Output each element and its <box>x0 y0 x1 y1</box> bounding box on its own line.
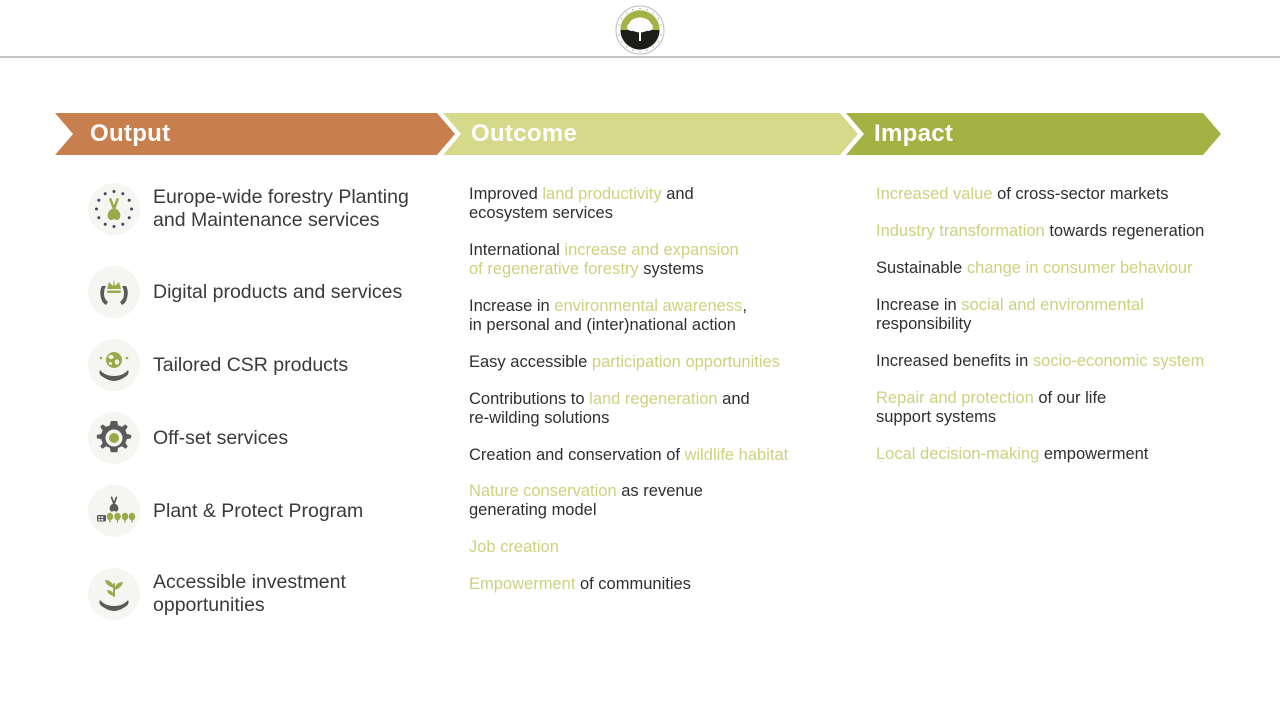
tree-circle-logo <box>615 5 665 55</box>
impact-item-line: Increased benefits in socio-economic sys… <box>876 352 1204 371</box>
outcome-item-line: of regenerative forestry systems <box>469 260 739 279</box>
outcome-item[interactable]: Contributions to land regeneration andre… <box>469 390 750 429</box>
highlight-text: increase and expansion <box>564 241 738 259</box>
highlight-text: Job creation <box>469 538 559 556</box>
outcome-item[interactable]: Creation and conservation of wildlife ha… <box>469 446 788 465</box>
plain-text: of cross-sector markets <box>993 185 1169 203</box>
outcome-item-line: Easy accessible participation opportunit… <box>469 353 780 372</box>
impact-item[interactable]: Local decision-making empowerment <box>876 445 1148 464</box>
output-item-line: Digital products and services <box>153 281 402 304</box>
plain-text: Contributions to <box>469 390 589 408</box>
outcome-item[interactable]: International increase and expansionof r… <box>469 241 739 280</box>
highlight-text: Repair and protection <box>876 389 1034 407</box>
plain-text: generating model <box>469 501 597 519</box>
impact-item-line: Industry transformation towards regenera… <box>876 222 1204 241</box>
output-item-line: Off-set services <box>153 427 288 450</box>
outcome-item[interactable]: Improved land productivity andecosystem … <box>469 185 694 224</box>
plain-text: systems <box>639 260 704 278</box>
page-header <box>0 0 1280 58</box>
phase-banner-row: Output Outcome Impact <box>0 113 1280 155</box>
globe-in-hand-icon <box>88 339 140 391</box>
output-item[interactable]: Digital products and services <box>88 266 402 318</box>
shovels-and-trees-icon <box>88 485 140 537</box>
output-item-line: opportunities <box>153 594 346 617</box>
banner-output: Output <box>55 113 455 155</box>
impact-item[interactable]: Increased benefits in socio-economic sys… <box>876 352 1204 371</box>
highlight-text: Nature conservation <box>469 482 617 500</box>
impact-item[interactable]: Increase in social and environmentalresp… <box>876 296 1144 335</box>
plain-text: Creation and conservation of <box>469 446 685 464</box>
impact-item-line: Local decision-making empowerment <box>876 445 1148 464</box>
output-item-label: Digital products and services <box>153 281 402 304</box>
outcome-item[interactable]: Easy accessible participation opportunit… <box>469 353 780 372</box>
globe-in-hand-icon <box>88 339 140 391</box>
outcome-item[interactable]: Nature conservation as revenuegenerating… <box>469 482 703 521</box>
impact-item-line: Sustainable change in consumer behaviour <box>876 259 1192 278</box>
impact-item-line: responsibility <box>876 315 1144 334</box>
outcome-item-line: Nature conservation as revenue <box>469 482 703 501</box>
hands-holding-crown-icon <box>88 266 140 318</box>
output-item-label: Accessible investmentopportunities <box>153 571 346 617</box>
output-item[interactable]: Plant & Protect Program <box>88 485 363 537</box>
plain-text: Sustainable <box>876 259 967 277</box>
plain-text: ecosystem services <box>469 204 613 222</box>
impact-item-line: Repair and protection of our life <box>876 389 1106 408</box>
output-item-label: Plant & Protect Program <box>153 500 363 523</box>
highlight-text: of regenerative forestry <box>469 260 639 278</box>
highlight-text: land productivity <box>542 185 661 203</box>
banner-impact-label: Impact <box>874 120 953 148</box>
outcome-item-line: re-wilding solutions <box>469 409 750 428</box>
plain-text: Increase in <box>469 297 554 315</box>
highlight-text: land regeneration <box>589 390 717 408</box>
outcome-item[interactable]: Empowerment of communities <box>469 575 691 594</box>
plain-text: Increased benefits in <box>876 352 1033 370</box>
outcome-item-line: Increase in environmental awareness, <box>469 297 747 316</box>
banner-outcome-label: Outcome <box>471 120 577 148</box>
outcome-item-line: Job creation <box>469 538 559 557</box>
plain-text: and <box>662 185 694 203</box>
impact-item[interactable]: Sustainable change in consumer behaviour <box>876 259 1192 278</box>
output-item-label: Europe-wide forestry Plantingand Mainten… <box>153 186 409 232</box>
plain-text: International <box>469 241 564 259</box>
plain-text: in personal and (inter)national action <box>469 316 736 334</box>
output-item-line: Plant & Protect Program <box>153 500 363 523</box>
outcome-item-line: generating model <box>469 501 703 520</box>
highlight-text: environmental awareness <box>554 297 742 315</box>
plain-text: Easy accessible <box>469 353 592 371</box>
plain-text: support systems <box>876 408 996 426</box>
banner-impact: Impact <box>846 113 1221 155</box>
highlight-text: participation opportunities <box>592 353 780 371</box>
banner-outcome: Outcome <box>443 113 858 155</box>
crossed-shovels-eu-stars-icon <box>88 183 140 235</box>
sprout-in-hand-icon <box>88 568 140 620</box>
plain-text: Increase in <box>876 296 961 314</box>
outcome-item-line: ecosystem services <box>469 204 694 223</box>
outcome-item-line: Improved land productivity and <box>469 185 694 204</box>
highlight-text: change in consumer behaviour <box>967 259 1193 277</box>
outcome-item-line: in personal and (inter)national action <box>469 316 747 335</box>
output-item-label: Tailored CSR products <box>153 354 348 377</box>
plain-text: as revenue <box>617 482 703 500</box>
output-item[interactable]: Europe-wide forestry Plantingand Mainten… <box>88 183 409 235</box>
plain-text: responsibility <box>876 315 971 333</box>
output-item-line: Accessible investment <box>153 571 346 594</box>
plain-text: of communities <box>575 575 691 593</box>
highlight-text: wildlife habitat <box>685 446 789 464</box>
impact-item[interactable]: Increased value of cross-sector markets <box>876 185 1169 204</box>
highlight-text: Empowerment <box>469 575 575 593</box>
plain-text: empowerment <box>1039 445 1148 463</box>
banner-output-label: Output <box>90 120 170 148</box>
impact-item-line: support systems <box>876 408 1106 427</box>
highlight-text: Local decision-making <box>876 445 1039 463</box>
output-item[interactable]: Off-set services <box>88 412 288 464</box>
plain-text: re-wilding solutions <box>469 409 609 427</box>
plain-text: Improved <box>469 185 542 203</box>
plain-text: towards regeneration <box>1045 222 1205 240</box>
output-item[interactable]: Accessible investmentopportunities <box>88 568 346 620</box>
impact-item-line: Increase in social and environmental <box>876 296 1144 315</box>
impact-item[interactable]: Industry transformation towards regenera… <box>876 222 1204 241</box>
highlight-text: Industry transformation <box>876 222 1045 240</box>
output-item-line: Tailored CSR products <box>153 354 348 377</box>
gear-icon <box>88 412 140 464</box>
sprout-in-hand-icon <box>88 568 140 620</box>
plain-text: and <box>718 390 750 408</box>
output-item-line: and Maintenance services <box>153 209 409 232</box>
plain-text: , <box>742 297 747 315</box>
output-item-line: Europe-wide forestry Planting <box>153 186 409 209</box>
outcome-item[interactable]: Job creation <box>469 538 559 557</box>
plain-text: of our life <box>1034 389 1106 407</box>
outcome-item-line: Contributions to land regeneration and <box>469 390 750 409</box>
hands-holding-crown-icon <box>88 266 140 318</box>
output-item-label: Off-set services <box>153 427 288 450</box>
outcome-item-line: Creation and conservation of wildlife ha… <box>469 446 788 465</box>
highlight-text: Increased value <box>876 185 993 203</box>
impact-item-line: Increased value of cross-sector markets <box>876 185 1169 204</box>
shovels-and-trees-icon <box>88 485 140 537</box>
impact-item[interactable]: Repair and protection of our lifesupport… <box>876 389 1106 428</box>
highlight-text: social and environmental <box>961 296 1144 314</box>
output-item[interactable]: Tailored CSR products <box>88 339 348 391</box>
outcome-item[interactable]: Increase in environmental awareness,in p… <box>469 297 747 336</box>
highlight-text: socio-economic system <box>1033 352 1204 370</box>
crossed-shovels-eu-stars-icon <box>88 183 140 235</box>
outcome-item-line: Empowerment of communities <box>469 575 691 594</box>
outcome-item-line: International increase and expansion <box>469 241 739 260</box>
gear-icon <box>88 412 140 464</box>
